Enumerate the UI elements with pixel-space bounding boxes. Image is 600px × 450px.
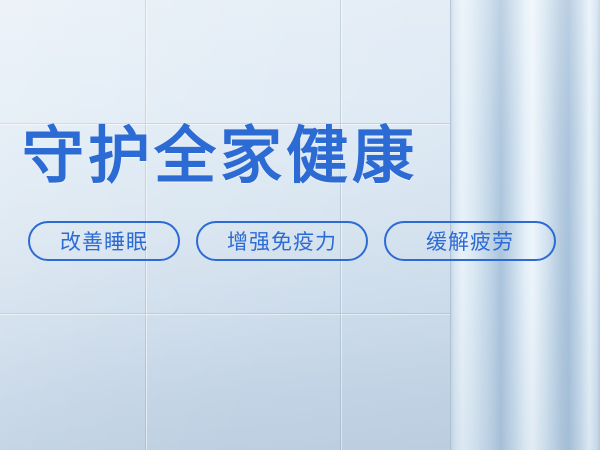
poster-headline: 守护全家健康 [22,122,418,192]
health-poster: 守护全家健康 改善睡眠 增强免疫力 缓解疲劳 [0,0,600,450]
benefit-tag-relieve-fatigue[interactable]: 缓解疲劳 [384,221,556,261]
benefit-tag-row: 改善睡眠 增强免疫力 缓解疲劳 [28,221,556,261]
benefit-tag-improve-sleep[interactable]: 改善睡眠 [28,221,180,261]
poster-content: 守护全家健康 改善睡眠 增强免疫力 缓解疲劳 [22,0,582,450]
benefit-tag-boost-immunity[interactable]: 增强免疫力 [196,221,368,261]
